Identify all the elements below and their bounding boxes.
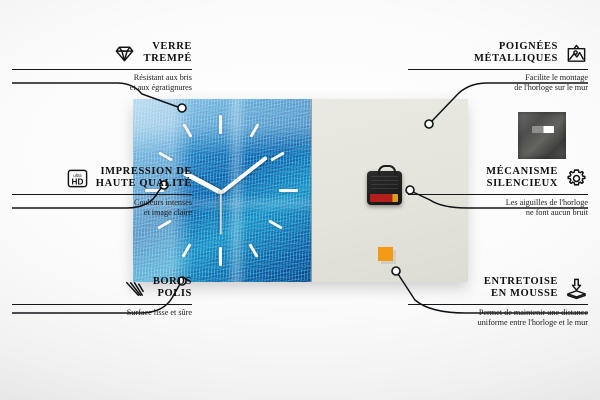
desc-line-2: de l'horloge sur le mur <box>408 83 588 94</box>
callout-header: VERRE TREMPÉ <box>12 41 192 66</box>
clock-tick <box>219 115 222 134</box>
picture-hanger-icon <box>565 42 588 65</box>
desc-line-1: Les aiguilles de l'horloge <box>408 198 588 209</box>
title-line-1: VERRE <box>143 41 192 53</box>
callout-description: Résistant aux bris et aux égratignures <box>12 73 192 94</box>
desc-line-1: Surface lisse et sûre <box>12 308 192 319</box>
callout-description: Facilite le montage de l'horloge sur le … <box>408 73 588 94</box>
desc-line-2: et image claire <box>12 208 192 219</box>
callout-rule <box>408 69 588 70</box>
foam-spacer <box>378 247 393 261</box>
infographic-stage: VERRE TREMPÉ Résistant aux bris et aux é… <box>0 0 600 400</box>
callout-description: Les aiguilles de l'horloge ne font aucun… <box>408 198 588 219</box>
title-line-2: TREMPÉ <box>143 53 192 65</box>
callout-header: BORDS POLIS <box>12 276 192 301</box>
desc-line-1: Permet de maintenir une distance <box>408 308 588 319</box>
callout-rule <box>12 69 192 70</box>
callout-rule <box>408 194 588 195</box>
clock-second-hand <box>220 193 222 235</box>
svg-text:HD: HD <box>71 177 83 186</box>
callout-title: ENTRETOISE EN MOUSSE <box>484 276 558 301</box>
callout-header: MÉCANISME SILENCIEUX <box>408 166 588 191</box>
callout-rule <box>12 194 192 195</box>
clock-tick <box>219 247 222 266</box>
desc-line-2: ne font aucun bruit <box>408 208 588 219</box>
callout-entretoise-en-mousse: ENTRETOISE EN MOUSSE Permet de maintenir… <box>408 276 588 329</box>
title-line-2: MÉTALLIQUES <box>474 53 558 65</box>
title-line-1: ENTRETOISE <box>484 276 558 288</box>
mechanism-label <box>371 176 398 192</box>
clock-tick <box>279 189 298 192</box>
callout-description: Permet de maintenir une distance uniform… <box>408 308 588 329</box>
callout-title: BORDS POLIS <box>153 276 192 301</box>
title-line-1: BORDS <box>153 276 192 288</box>
desc-line-2: uniforme entre l'horloge et le mur <box>408 318 588 329</box>
ultra-hd-icon: ultra HD <box>66 167 89 190</box>
desc-line-2: et aux égratignures <box>12 83 192 94</box>
callout-title: VERRE TREMPÉ <box>143 41 192 66</box>
callout-title: MÉCANISME SILENCIEUX <box>486 166 558 191</box>
callout-title: POIGNÉES MÉTALLIQUES <box>474 41 558 66</box>
title-line-1: POIGNÉES <box>474 41 558 53</box>
callout-bords-polis: BORDS POLIS Surface lisse et sûre <box>12 276 192 318</box>
callout-title: IMPRESSION DE HAUTE QUALITÉ <box>96 166 192 191</box>
callout-verre-trempe: VERRE TREMPÉ Résistant aux bris et aux é… <box>12 41 192 94</box>
callout-description: Couleurs intenses et image claire <box>12 198 192 219</box>
callout-mecanisme-silencieux: MÉCANISME SILENCIEUX Les aiguilles de l'… <box>408 166 588 219</box>
callout-rule <box>408 304 588 305</box>
mechanism-hanging-loop <box>378 165 396 175</box>
desc-line-1: Résistant aux bris <box>12 73 192 84</box>
callout-impression-haute-qualite: ultra HD IMPRESSION DE HAUTE QUALITÉ Cou… <box>12 166 192 219</box>
title-line-1: IMPRESSION DE <box>96 166 192 178</box>
title-line-2: POLIS <box>153 288 192 300</box>
callout-poignees-metalliques: POIGNÉES MÉTALLIQUES Facilite le montage… <box>408 41 588 94</box>
metal-hanger-plate <box>518 112 566 159</box>
callout-description: Surface lisse et sûre <box>12 308 192 319</box>
desc-line-1: Couleurs intenses <box>12 198 192 209</box>
title-line-2: SILENCIEUX <box>486 178 558 190</box>
mechanism-battery <box>370 194 398 202</box>
title-line-2: HAUTE QUALITÉ <box>96 178 192 190</box>
callout-rule <box>12 304 192 305</box>
polished-edges-icon <box>123 277 146 300</box>
title-line-1: MÉCANISME <box>486 166 558 178</box>
callout-header: ENTRETOISE EN MOUSSE <box>408 276 588 301</box>
gear-icon <box>565 167 588 190</box>
desc-line-1: Facilite le montage <box>408 73 588 84</box>
clock-mechanism <box>367 171 402 205</box>
hanger-keyhole-slot <box>532 126 554 133</box>
clock-center-pin <box>219 190 223 194</box>
foam-spacer-icon <box>565 277 588 300</box>
callout-header: POIGNÉES MÉTALLIQUES <box>408 41 588 66</box>
title-line-2: EN MOUSSE <box>484 288 558 300</box>
diamond-icon <box>113 42 136 65</box>
callout-header: ultra HD IMPRESSION DE HAUTE QUALITÉ <box>12 166 192 191</box>
